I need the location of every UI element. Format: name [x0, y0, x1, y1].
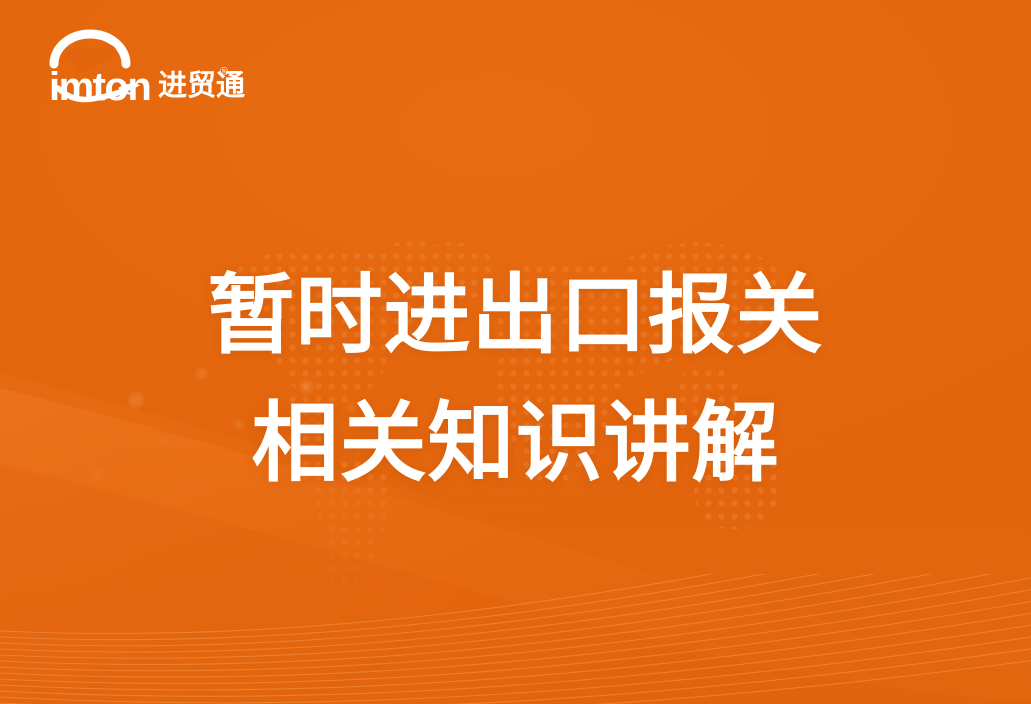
registered-trademark-icon: ®: [220, 67, 228, 78]
bottom-wave-shape: [0, 344, 1031, 704]
page-title: 暂时进出口报关 相关知识讲解: [0, 252, 1031, 508]
logo-latin-text: imton: [49, 67, 150, 107]
bokeh-dots: [0, 0, 1031, 704]
poster-canvas: imton 进贸通 ® 暂时进出口报关 相关知识讲解: [0, 0, 1031, 704]
background-gradient: [0, 0, 1031, 704]
title-line-1: 暂时进出口报关: [0, 252, 1031, 380]
title-line-2: 相关知识讲解: [0, 380, 1031, 508]
imton-logo[interactable]: imton 进贸通 ®: [40, 26, 215, 102]
logo-chinese-text: 进贸通: [158, 72, 245, 101]
dotted-world-map: [0, 120, 1031, 600]
